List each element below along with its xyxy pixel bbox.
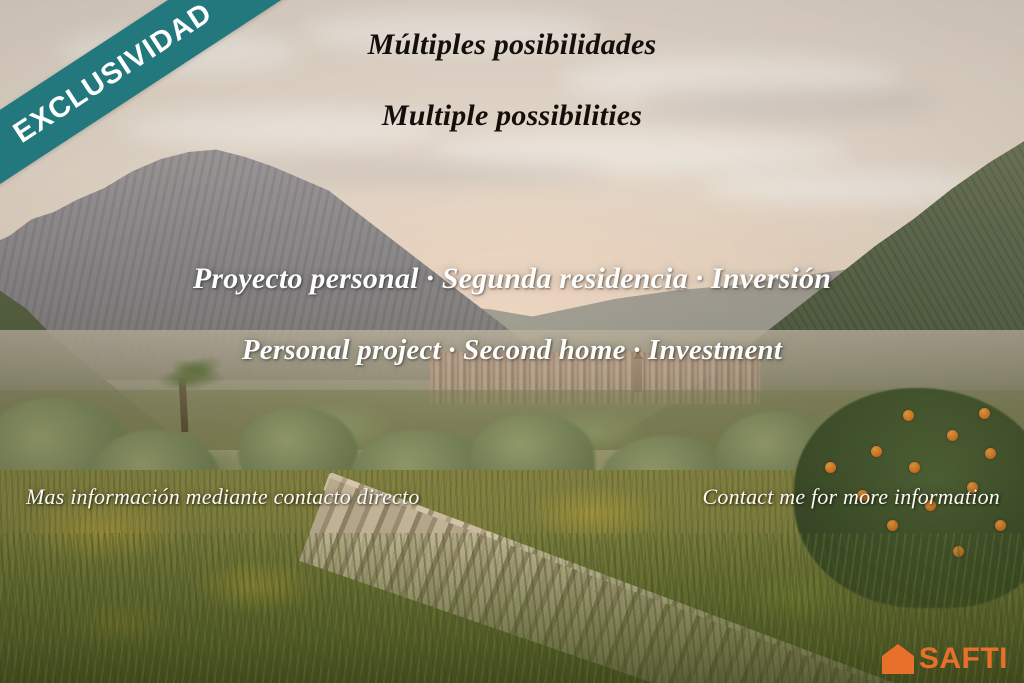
headline-spanish: Múltiples posibilidades: [0, 28, 1024, 61]
contact-line-spanish: Mas información mediante contacto direct…: [26, 484, 420, 510]
safti-wordmark: SAFTI: [919, 644, 1008, 674]
contact-line-english: Contact me for more information: [703, 484, 1001, 510]
orange-fruit: [825, 462, 836, 473]
orange-fruit: [871, 446, 882, 457]
orange-fruit: [903, 410, 914, 421]
headline-english: Multiple possibilities: [0, 99, 1024, 132]
orange-fruit: [985, 448, 996, 459]
midline-spanish: Proyecto personal · Segunda residencia ·…: [0, 262, 1024, 295]
foreground-grass: [0, 533, 1024, 683]
orange-fruit: [995, 520, 1006, 531]
poster-image: EXCLUSIVIDAD Múltiples posibilidades Mul…: [0, 0, 1024, 683]
orange-fruit: [947, 430, 958, 441]
orange-fruit: [979, 408, 990, 419]
orange-fruit: [909, 462, 920, 473]
safti-logo[interactable]: SAFTI: [881, 643, 1008, 675]
headline-group: Múltiples posibilidades Multiple possibi…: [0, 28, 1024, 132]
midline-group: Proyecto personal · Segunda residencia ·…: [0, 262, 1024, 367]
house-icon: [881, 643, 915, 675]
orange-fruit: [887, 520, 898, 531]
midline-english: Personal project · Second home · Investm…: [0, 335, 1024, 367]
